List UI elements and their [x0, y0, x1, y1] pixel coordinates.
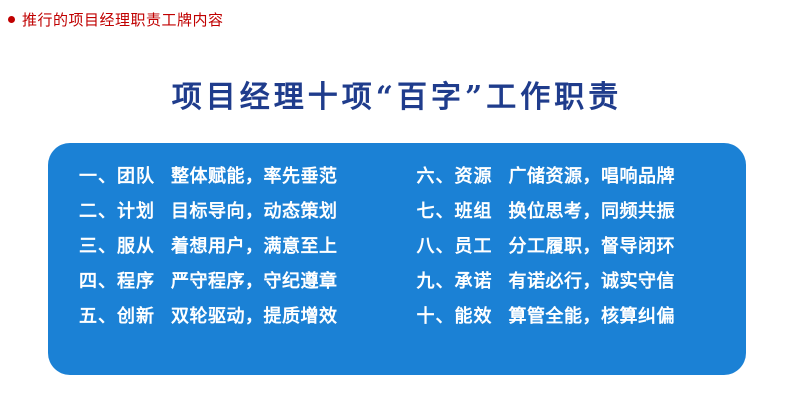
list-item-text: 双轮驱动，提质增效	[171, 305, 338, 329]
duties-column-left: 一、团队 整体赋能，率先垂范 二、计划 目标导向，动态策划 三、服从 着想用户，…	[48, 165, 409, 375]
list-item-text: 换位思考，同频共振	[509, 200, 676, 224]
list-item: 五、创新 双轮驱动，提质增效	[79, 305, 409, 329]
list-item-text: 算管全能，核算纠偏	[509, 305, 676, 329]
list-item: 二、计划 目标导向，动态策划	[79, 200, 409, 224]
list-item-number: 一、团队	[79, 165, 171, 189]
list-item-text: 有诺必行，诚实守信	[509, 270, 676, 294]
list-item-text: 分工履职，督导闭环	[509, 235, 676, 259]
list-item: 六、资源 广储资源，唱响品牌	[417, 165, 747, 189]
list-item-number: 八、员工	[417, 235, 509, 259]
list-item-number: 二、计划	[79, 200, 171, 224]
list-item-text: 目标导向，动态策划	[171, 200, 338, 224]
list-item: 十、能效 算管全能，核算纠偏	[417, 305, 747, 329]
list-item: 九、承诺 有诺必行，诚实守信	[417, 270, 747, 294]
list-item-number: 三、服从	[79, 235, 171, 259]
list-item-number: 七、班组	[417, 200, 509, 224]
list-item-text: 严守程序，守纪遵章	[171, 270, 338, 294]
duties-panel: 一、团队 整体赋能，率先垂范 二、计划 目标导向，动态策划 三、服从 着想用户，…	[48, 143, 746, 375]
list-item: 三、服从 着想用户，满意至上	[79, 235, 409, 259]
list-item: 四、程序 严守程序，守纪遵章	[79, 270, 409, 294]
duties-columns: 一、团队 整体赋能，率先垂范 二、计划 目标导向，动态策划 三、服从 着想用户，…	[48, 165, 746, 375]
page-title: 项目经理十项“百字”工作职责	[0, 72, 794, 116]
bullet-dot-icon	[8, 16, 15, 23]
list-item-number: 五、创新	[79, 305, 171, 329]
list-item-text: 整体赋能，率先垂范	[171, 165, 338, 189]
list-item: 八、员工 分工履职，督导闭环	[417, 235, 747, 259]
list-item: 一、团队 整体赋能，率先垂范	[79, 165, 409, 189]
list-item-number: 十、能效	[417, 305, 509, 329]
list-item-number: 四、程序	[79, 270, 171, 294]
slide-subheading-label: 推行的项目经理职责工牌内容	[22, 9, 224, 30]
list-item-number: 九、承诺	[417, 270, 509, 294]
list-item-number: 六、资源	[417, 165, 509, 189]
list-item-text: 广储资源，唱响品牌	[509, 165, 676, 189]
duties-column-right: 六、资源 广储资源，唱响品牌 七、班组 换位思考，同频共振 八、员工 分工履职，…	[409, 165, 747, 375]
slide-subheading: 推行的项目经理职责工牌内容	[8, 9, 224, 30]
list-item: 七、班组 换位思考，同频共振	[417, 200, 747, 224]
list-item-text: 着想用户，满意至上	[171, 235, 338, 259]
